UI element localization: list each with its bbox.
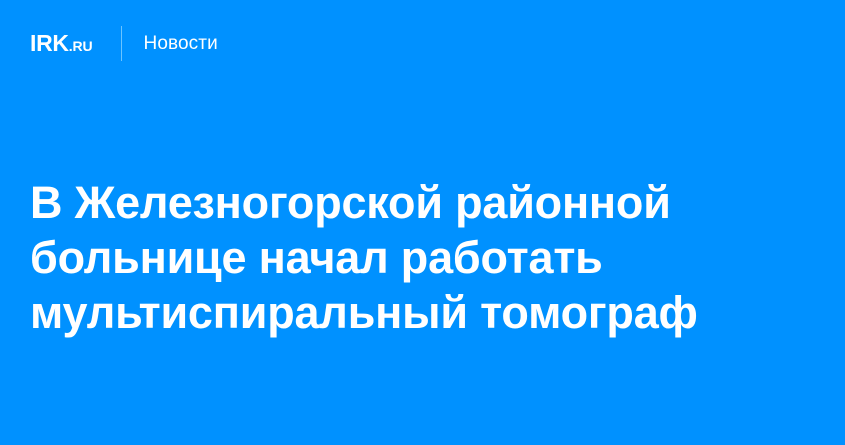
- site-logo-link[interactable]: IRK.RU: [30, 32, 93, 55]
- article-headline: В Железногорской районной больнице начал…: [30, 175, 790, 340]
- site-logo-tld-text: .RU: [69, 39, 93, 53]
- news-card-page: IRK.RU Новости В Железногорской районной…: [0, 0, 845, 445]
- nav-link-news[interactable]: Новости: [144, 34, 218, 53]
- headline-container: В Железногорской районной больнице начал…: [30, 175, 790, 340]
- header-divider: [121, 26, 122, 61]
- site-header: IRK.RU Новости: [0, 0, 845, 86]
- site-logo-main-text: IRK: [30, 32, 69, 55]
